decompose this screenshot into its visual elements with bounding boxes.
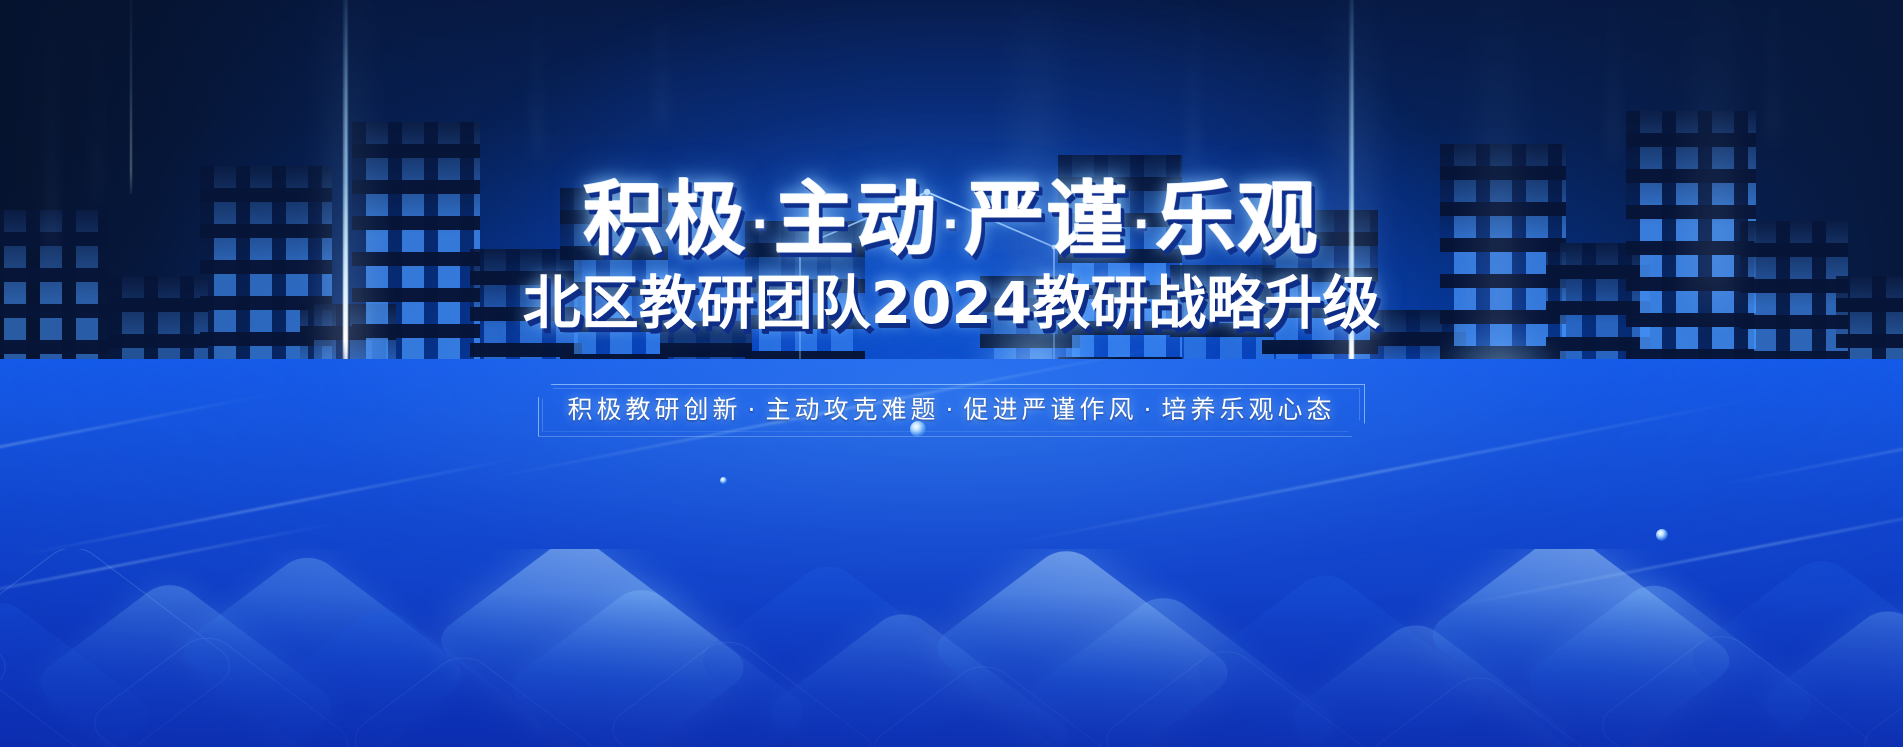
tagline-separator-1: · — [742, 395, 766, 424]
tagline-separator-3: · — [1137, 395, 1161, 424]
page-title: 积极·主动·严谨·乐观 — [583, 180, 1319, 260]
tagline-item-1: 积极教研创新 — [568, 395, 742, 424]
title-separator-1: · — [747, 199, 774, 250]
title-separator-2: · — [938, 199, 965, 250]
tagline-text: 积极教研创新·主动攻克难题·促进严谨作风·培养乐观心态 — [568, 396, 1336, 424]
tagline-frame: 积极教研创新·主动攻克难题·促进严谨作风·培养乐观心态 — [538, 384, 1366, 437]
page-subtitle: 北区教研团队2024教研战略升级 — [523, 274, 1380, 332]
title-word-4: 乐观 — [1156, 173, 1320, 266]
tagline-separator-2: · — [940, 395, 964, 424]
banner-stage: 积极·主动·严谨·乐观 北区教研团队2024教研战略升级 积极教研创新·主动攻克… — [0, 0, 1903, 747]
title-separator-3: · — [1129, 199, 1156, 250]
title-word-3: 严谨 — [965, 173, 1129, 266]
title-word-1: 积极 — [583, 173, 747, 266]
tagline-item-3: 促进严谨作风 — [963, 395, 1137, 424]
title-word-2: 主动 — [774, 173, 938, 266]
tagline-item-4: 培养乐观心态 — [1161, 395, 1335, 424]
banner-content: 积极·主动·严谨·乐观 北区教研团队2024教研战略升级 积极教研创新·主动攻克… — [0, 0, 1903, 747]
tagline-item-2: 主动攻克难题 — [766, 395, 940, 424]
